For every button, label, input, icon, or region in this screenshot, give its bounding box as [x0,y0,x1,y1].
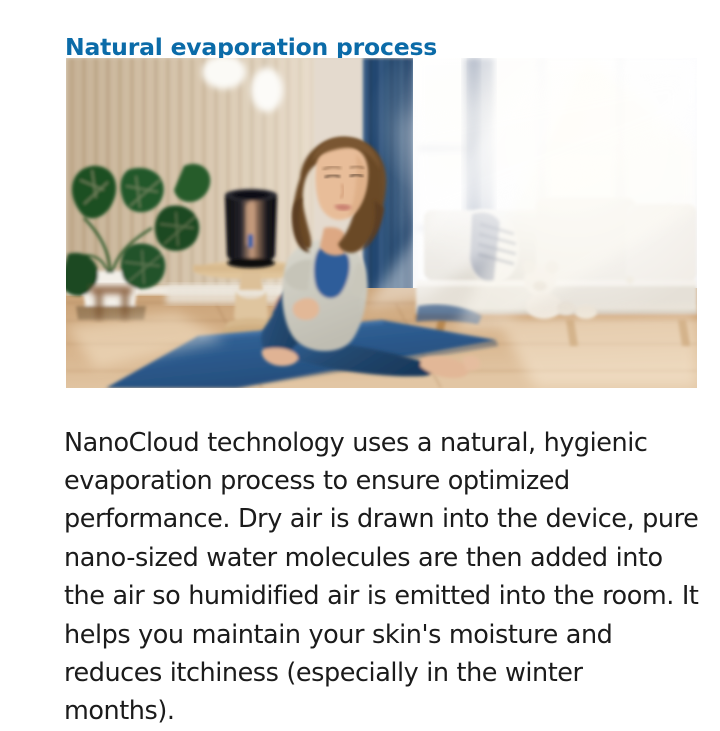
hero-photo [66,58,697,388]
hero-photo-illustration [66,58,697,388]
body-paragraph: NanoCloud technology uses a natural, hyg… [64,424,700,731]
page-title: Natural evaporation process [65,33,437,61]
article-section: Natural evaporation process [0,0,720,720]
